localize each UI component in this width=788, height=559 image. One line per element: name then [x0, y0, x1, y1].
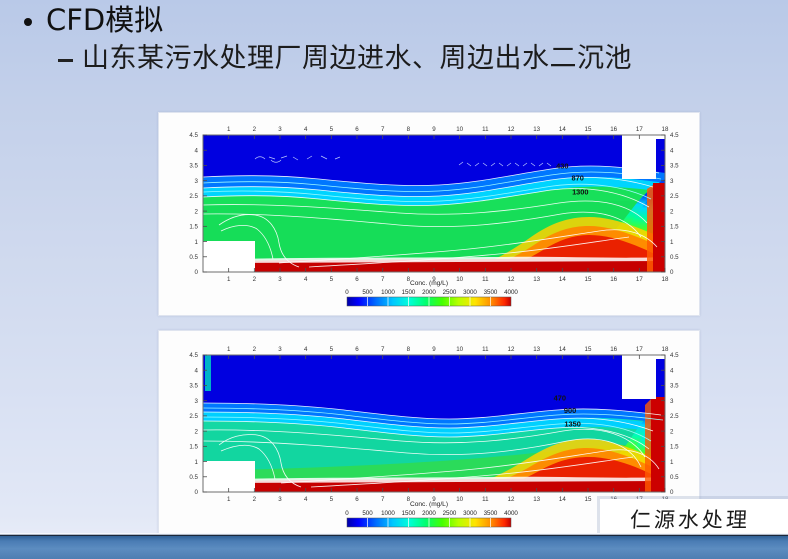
svg-text:Conc. (mg/L): Conc. (mg/L) [410, 501, 448, 508]
watermark-label: 仁源水处理 [629, 504, 751, 534]
svg-text:1.5: 1.5 [189, 224, 198, 231]
svg-text:4: 4 [195, 147, 199, 154]
svg-text:5: 5 [330, 346, 334, 353]
svg-text:17: 17 [636, 276, 643, 283]
svg-text:4: 4 [304, 126, 308, 133]
svg-text:870: 870 [572, 174, 584, 183]
svg-text:0: 0 [195, 269, 199, 276]
svg-text:3500: 3500 [484, 510, 498, 517]
svg-text:3: 3 [278, 496, 282, 503]
svg-text:9: 9 [432, 126, 436, 133]
svg-text:1: 1 [670, 239, 674, 246]
svg-text:10: 10 [456, 496, 463, 503]
colorbar-bottom: Conc. (mg/L) 050010001500200025003000350… [345, 501, 518, 527]
svg-text:8: 8 [407, 126, 411, 133]
svg-text:1300: 1300 [572, 187, 588, 196]
title-line-level1: CFD模拟 [0, 2, 788, 38]
svg-text:6: 6 [355, 126, 359, 133]
svg-text:12: 12 [508, 126, 515, 133]
svg-text:500: 500 [362, 289, 373, 296]
svg-text:9: 9 [432, 346, 436, 353]
slide-title-block: CFD模拟 山东某污水处理厂周边进水、周边出水二沉池 [0, 2, 788, 78]
svg-text:1: 1 [227, 346, 231, 353]
svg-text:1: 1 [195, 459, 199, 466]
svg-text:3500: 3500 [484, 289, 498, 296]
svg-text:13: 13 [533, 126, 540, 133]
svg-text:1.5: 1.5 [670, 444, 679, 451]
svg-text:2: 2 [253, 276, 257, 283]
svg-text:2: 2 [253, 126, 257, 133]
svg-text:2: 2 [670, 428, 674, 435]
svg-text:15: 15 [585, 346, 592, 353]
svg-text:2000: 2000 [422, 510, 436, 517]
svg-text:2500: 2500 [443, 289, 457, 296]
svg-text:500: 500 [362, 510, 373, 517]
svg-text:7: 7 [381, 496, 385, 503]
svg-text:1: 1 [227, 496, 231, 503]
svg-text:1500: 1500 [402, 289, 416, 296]
svg-text:7: 7 [381, 276, 385, 283]
bullet-dot-icon [24, 18, 32, 26]
svg-text:3: 3 [670, 178, 674, 185]
svg-text:3: 3 [278, 276, 282, 283]
svg-text:13: 13 [533, 496, 540, 503]
svg-text:1: 1 [227, 276, 231, 283]
svg-text:2500: 2500 [443, 510, 457, 517]
svg-text:0: 0 [670, 269, 674, 276]
svg-text:11: 11 [482, 126, 489, 133]
svg-text:14: 14 [559, 126, 566, 133]
svg-text:4: 4 [304, 496, 308, 503]
svg-text:12: 12 [508, 276, 515, 283]
svg-text:1: 1 [195, 239, 199, 246]
svg-text:3.5: 3.5 [670, 163, 679, 170]
svg-text:900: 900 [564, 406, 576, 415]
footer-bar [0, 536, 788, 559]
svg-text:15: 15 [585, 276, 592, 283]
svg-text:17: 17 [636, 346, 643, 353]
svg-text:2: 2 [670, 208, 674, 215]
svg-text:Conc. (mg/L): Conc. (mg/L) [410, 280, 448, 287]
dash-bullet-icon [58, 59, 73, 62]
page-subtitle: 山东某污水处理厂周边进水、周边出水二沉池 [82, 40, 632, 78]
svg-text:4.5: 4.5 [189, 352, 198, 359]
svg-text:16: 16 [610, 126, 617, 133]
svg-text:7: 7 [381, 346, 385, 353]
svg-text:18: 18 [662, 346, 669, 353]
svg-text:13: 13 [533, 276, 540, 283]
svg-text:2000: 2000 [422, 289, 436, 296]
svg-text:14: 14 [559, 496, 566, 503]
svg-text:3: 3 [670, 398, 674, 405]
svg-text:2: 2 [253, 496, 257, 503]
svg-text:10: 10 [456, 276, 463, 283]
cfd-contour-plot-top: 123456789101112131415161718 123456789101… [159, 113, 699, 315]
svg-text:4: 4 [304, 276, 308, 283]
svg-text:3: 3 [278, 126, 282, 133]
svg-text:18: 18 [662, 126, 669, 133]
svg-text:6: 6 [355, 346, 359, 353]
svg-text:3000: 3000 [463, 510, 477, 517]
svg-text:4.5: 4.5 [670, 132, 679, 139]
svg-text:14: 14 [559, 346, 566, 353]
svg-text:16: 16 [610, 276, 617, 283]
svg-text:1000: 1000 [381, 510, 395, 517]
colorbar-top: Conc. (mg/L) 050010001500200025003000350… [345, 280, 518, 306]
svg-text:5: 5 [330, 276, 334, 283]
svg-text:2: 2 [253, 346, 257, 353]
svg-text:6: 6 [355, 496, 359, 503]
svg-text:11: 11 [482, 496, 489, 503]
svg-text:15: 15 [585, 126, 592, 133]
svg-text:1350: 1350 [564, 420, 580, 429]
svg-text:5: 5 [330, 496, 334, 503]
svg-text:0.5: 0.5 [670, 474, 679, 481]
svg-text:1.5: 1.5 [189, 444, 198, 451]
svg-text:4: 4 [195, 367, 199, 374]
svg-text:1: 1 [670, 459, 674, 466]
svg-text:13: 13 [533, 346, 540, 353]
svg-text:3: 3 [195, 178, 199, 185]
svg-text:5: 5 [330, 126, 334, 133]
title-line-level2: 山东某污水处理厂周边进水、周边出水二沉池 [0, 40, 788, 78]
page-title: CFD模拟 [46, 2, 163, 38]
svg-text:11: 11 [482, 276, 489, 283]
cfd-figure-top: 123456789101112131415161718 123456789101… [158, 112, 700, 316]
svg-text:2.5: 2.5 [670, 193, 679, 200]
svg-text:3000: 3000 [463, 289, 477, 296]
svg-text:10: 10 [456, 346, 463, 353]
svg-text:1: 1 [227, 126, 231, 133]
svg-text:0: 0 [345, 510, 349, 517]
slide-canvas: CFD模拟 山东某污水处理厂周边进水、周边出水二沉池 [0, 0, 788, 559]
svg-text:2: 2 [195, 428, 199, 435]
svg-text:430: 430 [556, 161, 568, 170]
svg-text:12: 12 [508, 346, 515, 353]
svg-text:4: 4 [304, 346, 308, 353]
svg-text:4: 4 [670, 367, 674, 374]
svg-text:1000: 1000 [381, 289, 395, 296]
svg-text:3: 3 [278, 346, 282, 353]
svg-text:4000: 4000 [504, 510, 518, 517]
svg-text:7: 7 [381, 126, 385, 133]
svg-text:4.5: 4.5 [189, 132, 198, 139]
svg-text:0.5: 0.5 [670, 254, 679, 261]
svg-text:0: 0 [345, 289, 349, 296]
svg-text:16: 16 [610, 346, 617, 353]
svg-text:0: 0 [195, 489, 199, 496]
svg-text:3.5: 3.5 [670, 383, 679, 390]
svg-text:4000: 4000 [504, 289, 518, 296]
svg-text:14: 14 [559, 276, 566, 283]
svg-text:3: 3 [195, 398, 199, 405]
svg-text:0.5: 0.5 [189, 474, 198, 481]
svg-text:18: 18 [662, 276, 669, 283]
svg-text:4.5: 4.5 [670, 352, 679, 359]
svg-text:3.5: 3.5 [189, 383, 198, 390]
svg-text:1500: 1500 [402, 510, 416, 517]
svg-text:1.5: 1.5 [670, 224, 679, 231]
svg-text:470: 470 [554, 394, 566, 403]
svg-text:17: 17 [636, 126, 643, 133]
svg-text:6: 6 [355, 276, 359, 283]
svg-text:10: 10 [456, 126, 463, 133]
svg-text:12: 12 [508, 496, 515, 503]
svg-text:11: 11 [482, 346, 489, 353]
svg-text:4: 4 [670, 147, 674, 154]
svg-text:2.5: 2.5 [189, 193, 198, 200]
svg-text:2.5: 2.5 [670, 413, 679, 420]
svg-text:2.5: 2.5 [189, 413, 198, 420]
svg-text:3.5: 3.5 [189, 163, 198, 170]
svg-text:2: 2 [195, 208, 199, 215]
svg-text:8: 8 [407, 346, 411, 353]
svg-text:0.5: 0.5 [189, 254, 198, 261]
svg-text:15: 15 [585, 496, 592, 503]
cfd-plot-top-wrapper: 123456789101112131415161718 123456789101… [159, 113, 699, 315]
